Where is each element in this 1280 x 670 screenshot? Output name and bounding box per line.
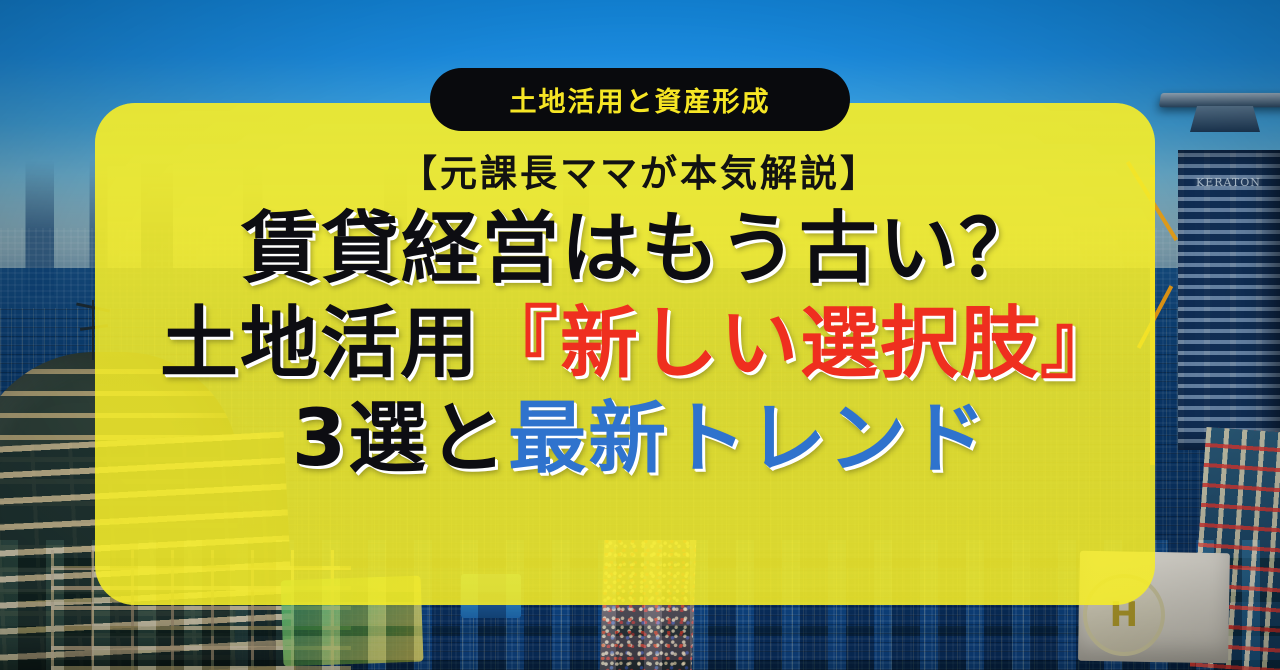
headline-subtitle: 【元課長ママが本気解説】	[0, 150, 1280, 197]
headline-line-2: 土地活用『新しい選択肢』	[0, 298, 1280, 391]
helipad-icon: H	[1083, 574, 1165, 656]
category-badge: 土地活用と資産形成	[430, 68, 850, 131]
headline-block: 【元課長ママが本気解説】 賃貸経営はもう古い？ 土地活用『新しい選択肢』 3選と…	[0, 150, 1280, 488]
headline-lines: 賃貸経営はもう古い？ 土地活用『新しい選択肢』 3選と最新トレンド	[0, 203, 1280, 485]
headline-line-2-segment-1: 土地活用	[160, 299, 480, 389]
headline-line-3: 3選と最新トレンド	[0, 393, 1280, 486]
headline-line-3-segment-1: 3選と	[292, 394, 508, 484]
headline-line-3-segment-2: 最新トレンド	[508, 394, 988, 484]
tower-roof-structure	[1190, 106, 1260, 132]
headline-line-2-segment-2: 『新しい選択肢』	[480, 299, 1120, 389]
banner-canvas: KERATON H 土地活用と資産形成 【元課長ママが本気解説】 賃貸経営はもう…	[0, 0, 1280, 670]
headline-line-1: 賃貸経営はもう古い？	[0, 203, 1280, 296]
category-badge-label: 土地活用と資産形成	[510, 80, 771, 119]
headline-line-1-segment-1: 賃貸経営はもう古い？	[241, 204, 1039, 294]
tower-roof-canopy	[1159, 93, 1280, 107]
street-scene: H	[0, 540, 1280, 670]
